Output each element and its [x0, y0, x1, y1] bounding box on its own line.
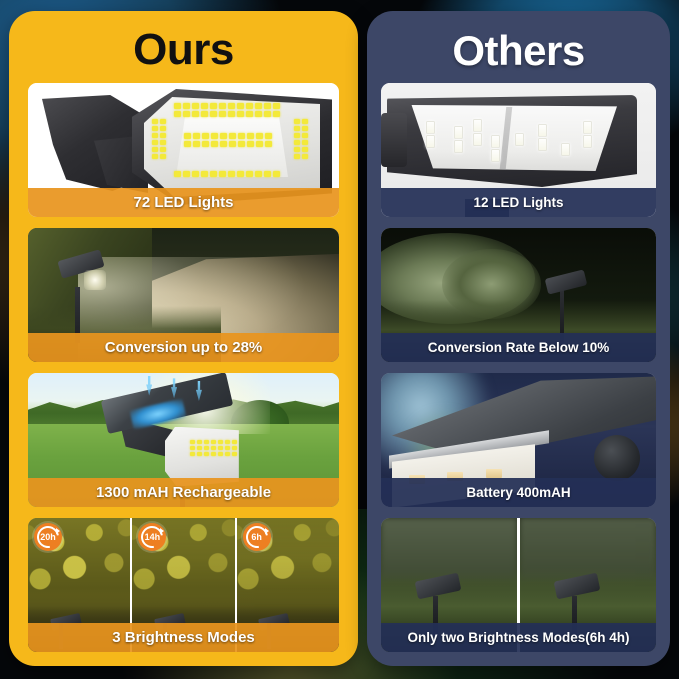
- others-card-label-battery: Battery 400mAH: [381, 478, 656, 507]
- ours-card-modes: 20h 14h: [28, 518, 339, 652]
- ours-card-conversion: Conversion up to 28%: [28, 228, 339, 362]
- lamp-inner-reflector: [176, 117, 288, 177]
- ours-panel-title: Ours: [9, 11, 358, 83]
- led-array-left-wing: [152, 119, 166, 159]
- lamp-head-shape: [545, 269, 588, 294]
- runtime-badge-6h: 6h: [243, 523, 271, 551]
- ours-card-label-battery: 1300 mAH Rechargeable: [28, 478, 339, 507]
- others-card-label-led-count: 12 LED Lights: [381, 188, 656, 217]
- ours-card-label-led-count: 72 LED Lights: [28, 188, 339, 217]
- ours-card-led-count: 72 LED Lights: [28, 83, 339, 217]
- others-card-label-conversion: Conversion Rate Below 10%: [381, 333, 656, 362]
- ours-card-battery: 1300 mAH Rechargeable: [28, 373, 339, 507]
- led-chip: [473, 133, 482, 146]
- others-card-battery: Battery 400mAH: [381, 373, 656, 507]
- led-array-small: [190, 440, 237, 456]
- ours-card-label-modes: 3 Brightness Modes: [28, 623, 339, 652]
- led-chip: [515, 133, 524, 146]
- led-array-bottom: [174, 171, 280, 177]
- ours-panel: Ours: [9, 11, 358, 666]
- infographic-root: Ours: [0, 0, 679, 679]
- led-chip: [561, 143, 570, 156]
- runtime-badge-label: 20h: [34, 523, 62, 551]
- led-array-middle: [184, 133, 272, 147]
- led-chip: [426, 135, 435, 148]
- lamp-bracket-shape: [381, 113, 407, 167]
- others-card-modes: Only two Brightness Modes(6h 4h): [381, 518, 656, 652]
- others-panel-title: Others: [367, 11, 670, 83]
- runtime-badge-20h: 20h: [34, 523, 62, 551]
- ours-card-label-conversion: Conversion up to 28%: [28, 333, 339, 362]
- led-array-right-wing: [294, 119, 308, 159]
- led-chip: [426, 121, 435, 134]
- runtime-badge-label: 14h: [138, 523, 166, 551]
- runtime-badge-label: 6h: [243, 523, 271, 551]
- others-card-conversion: Conversion Rate Below 10%: [381, 228, 656, 362]
- others-card-list: 12 LED Lights Conversion Rate Below 10%: [367, 83, 670, 652]
- led-chip: [538, 124, 547, 137]
- ours-card-list: 72 LED Lights Conversion up to 28%: [9, 83, 358, 652]
- others-card-label-modes: Only two Brightness Modes(6h 4h): [381, 623, 656, 652]
- led-chip: [538, 138, 547, 151]
- mounting-knob-shape: [594, 435, 640, 481]
- led-chip: [454, 140, 463, 153]
- others-panel: Others: [367, 11, 670, 666]
- led-chip: [491, 135, 500, 148]
- led-array-top: [174, 103, 280, 117]
- led-chip: [583, 121, 592, 134]
- led-chip: [583, 135, 592, 148]
- runtime-badge-14h: 14h: [138, 523, 166, 551]
- others-card-led-count: 12 LED Lights: [381, 83, 656, 217]
- led-chip: [491, 149, 500, 162]
- led-chip: [454, 126, 463, 139]
- lamp-glow-shape: [84, 270, 106, 290]
- led-chip: [473, 119, 482, 132]
